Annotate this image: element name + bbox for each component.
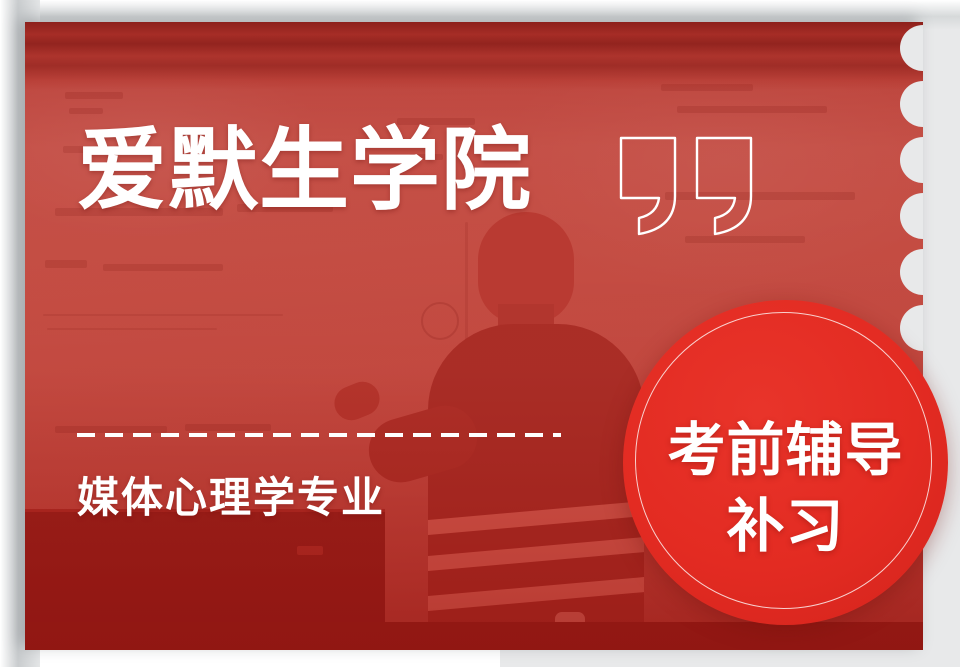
badge-line-1: 考前辅导 <box>623 422 948 480</box>
page-subtitle: 媒体心理学专业 <box>77 477 385 519</box>
page-title: 爱默生学院 <box>77 126 532 216</box>
poster-canvas: 爱默生学院 媒体心理学专业 考前辅导 补习 <box>0 0 960 667</box>
promo-badge[interactable]: 考前辅导 补习 <box>623 300 948 625</box>
top-band-shading <box>25 22 923 90</box>
badge-line-2: 补习 <box>623 498 948 556</box>
dashed-divider <box>77 433 561 437</box>
double-closing-quote-icon <box>617 134 767 239</box>
